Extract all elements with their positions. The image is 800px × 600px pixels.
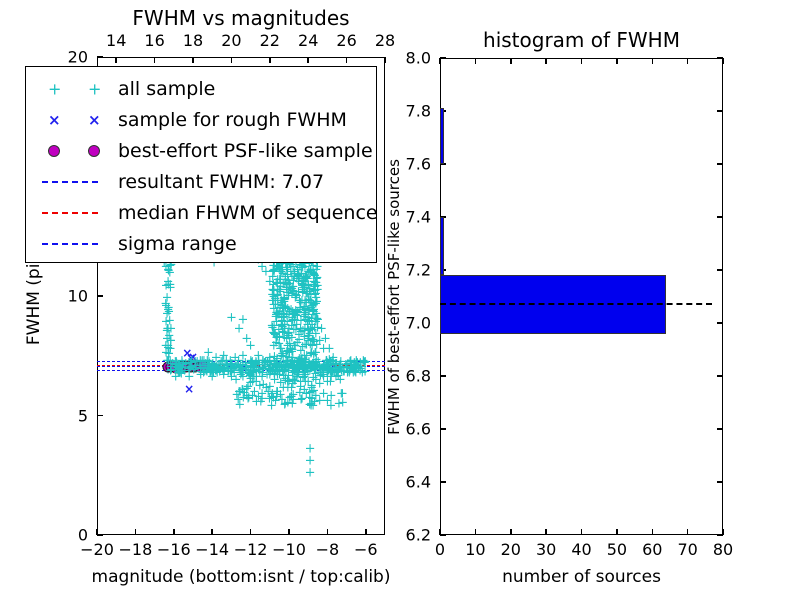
right-x-tick bbox=[652, 529, 654, 535]
right-y-tick-label: 7.0 bbox=[406, 314, 431, 333]
scatter-point-all-sample: + bbox=[306, 288, 317, 301]
left-xbot-tick bbox=[327, 529, 329, 535]
histogram-bar bbox=[440, 217, 444, 275]
left-xbot-tick-label: −18 bbox=[119, 540, 153, 559]
right-x-tick bbox=[581, 529, 583, 535]
right-y-tick-right bbox=[717, 216, 723, 218]
left-xtop-tick bbox=[346, 57, 348, 63]
scatter-point-all-sample: + bbox=[305, 466, 316, 479]
right-y-tick bbox=[440, 428, 446, 430]
right-y-tick-label: 6.2 bbox=[406, 526, 431, 545]
right-x-tick bbox=[545, 529, 547, 535]
legend-item[interactable]: resultant FWHM: 7.07 bbox=[26, 166, 376, 197]
scatter-point-all-sample: + bbox=[163, 354, 174, 367]
scatter-point-all-sample: + bbox=[215, 362, 226, 375]
left-y-tick bbox=[97, 534, 103, 536]
right-x-tick-label: 60 bbox=[642, 540, 662, 559]
right-y-tick-label: 8.0 bbox=[406, 49, 431, 68]
left-y-tick-label: 10 bbox=[68, 287, 88, 306]
right-y-tick-label: 6.6 bbox=[406, 420, 431, 439]
scatter-point-all-sample: + bbox=[293, 276, 304, 289]
left-xtop-tick-label: 28 bbox=[375, 31, 395, 50]
legend-dot-icon bbox=[48, 145, 60, 157]
figure-canvas: FWHM vs magnitudes1416182022242628−20−18… bbox=[0, 0, 800, 600]
right-y-tick-right bbox=[717, 57, 723, 59]
scatter-point-all-sample: + bbox=[237, 384, 248, 397]
scatter-point-all-sample: + bbox=[300, 339, 311, 352]
right-x-tick-top bbox=[722, 58, 724, 64]
left-xbot-tick bbox=[288, 529, 290, 535]
legend-dashdot-line-icon bbox=[42, 243, 98, 245]
left-xbot-tick bbox=[211, 529, 213, 535]
left-xtop-tick bbox=[231, 57, 233, 63]
right-y-tick-right bbox=[717, 481, 723, 483]
left-xbot-tick-label: −16 bbox=[157, 540, 191, 559]
left-xtop-tick bbox=[192, 57, 194, 63]
left-xtop-tick-label: 24 bbox=[298, 31, 318, 50]
legend-item[interactable]: median FHWM of sequence bbox=[26, 197, 376, 228]
legend-item-label: median FHWM of sequence bbox=[118, 202, 378, 224]
legend-cross-icon: × bbox=[88, 111, 101, 129]
scatter-point-all-sample: + bbox=[294, 386, 305, 399]
legend-dashed-line-icon bbox=[42, 212, 98, 214]
right-x-tick-top bbox=[581, 58, 583, 64]
right-x-tick-top bbox=[652, 58, 654, 64]
right-x-tick bbox=[616, 529, 618, 535]
right-y-tick-label: 7.6 bbox=[406, 155, 431, 174]
right-x-tick-label: 30 bbox=[536, 540, 556, 559]
legend-cross-icon: × bbox=[48, 111, 61, 129]
left-xbot-tick bbox=[365, 529, 367, 535]
legend-item-label: resultant FWHM: 7.07 bbox=[118, 171, 324, 193]
scatter-point-all-sample: + bbox=[163, 301, 174, 314]
scatter-point-all-sample: + bbox=[190, 355, 201, 368]
left-xtop-tick bbox=[384, 57, 386, 63]
right-x-tick bbox=[687, 529, 689, 535]
left-xbot-tick bbox=[135, 529, 137, 535]
right-xlabel: number of sources bbox=[502, 567, 661, 587]
right-y-tick-label: 7.8 bbox=[406, 102, 431, 121]
scatter-point-all-sample: + bbox=[300, 368, 311, 381]
scatter-point-all-sample: + bbox=[272, 289, 283, 302]
left-y-tick bbox=[97, 295, 103, 297]
right-y-tick-label: 6.4 bbox=[406, 473, 431, 492]
scatter-point-all-sample: + bbox=[265, 366, 276, 379]
right-y-tick-right bbox=[717, 110, 723, 112]
legend-box: ++all sample××sample for rough FWHMbest-… bbox=[25, 66, 377, 263]
scatter-point-all-sample: + bbox=[161, 279, 172, 292]
legend-item-label: sample for rough FWHM bbox=[118, 109, 347, 131]
left-xtop-tick-label: 26 bbox=[336, 31, 356, 50]
left-xtop-tick-label: 20 bbox=[221, 31, 241, 50]
scatter-point-all-sample: + bbox=[164, 314, 175, 327]
right-y-tick-right bbox=[717, 322, 723, 324]
left-xbot-tick-label: −8 bbox=[316, 540, 340, 559]
right-x-tick-label: 80 bbox=[713, 540, 733, 559]
right-x-tick-top bbox=[545, 58, 547, 64]
left-xbot-tick-label: −10 bbox=[272, 540, 306, 559]
right-plot-title: histogram of FWHM bbox=[483, 28, 680, 52]
scatter-point-all-sample: + bbox=[290, 308, 301, 321]
histogram-bar bbox=[440, 108, 444, 164]
left-xtop-tick bbox=[269, 57, 271, 63]
scatter-point-all-sample: + bbox=[237, 313, 248, 326]
right-x-tick-top bbox=[687, 58, 689, 64]
left-xtop-tick-label: 14 bbox=[106, 31, 126, 50]
legend-item[interactable]: sigma range bbox=[26, 228, 376, 259]
scatter-point-all-sample: + bbox=[353, 360, 364, 373]
right-x-tick-top bbox=[510, 58, 512, 64]
scatter-point-all-sample: + bbox=[306, 382, 317, 395]
right-y-tick-right bbox=[717, 269, 723, 271]
left-xtop-tick bbox=[115, 57, 117, 63]
right-x-tick-label: 20 bbox=[501, 540, 521, 559]
left-y-tick-label: 20 bbox=[68, 48, 88, 67]
right-y-tick bbox=[440, 534, 446, 536]
legend-plus-icon: + bbox=[88, 79, 101, 98]
left-xtop-tick-label: 22 bbox=[260, 31, 280, 50]
scatter-point-all-sample: + bbox=[277, 321, 288, 334]
histogram-resultant-fwhm-line bbox=[440, 303, 712, 305]
left-xbot-tick-label: −12 bbox=[234, 540, 268, 559]
right-x-tick-label: 40 bbox=[571, 540, 591, 559]
right-x-tick-top bbox=[616, 58, 618, 64]
left-xbot-tick bbox=[250, 529, 252, 535]
left-xbot-tick bbox=[173, 529, 175, 535]
right-y-tick-label: 7.2 bbox=[406, 261, 431, 280]
scatter-point-all-sample: + bbox=[336, 388, 347, 401]
right-y-tick bbox=[440, 481, 446, 483]
right-x-tick-label: 50 bbox=[607, 540, 627, 559]
right-y-tick-right bbox=[717, 163, 723, 165]
legend-item-label: sigma range bbox=[118, 233, 237, 255]
left-xtop-tick-label: 16 bbox=[144, 31, 164, 50]
right-ylabel: FWHM of best-effort PSF-like sources bbox=[385, 159, 403, 435]
right-y-tick-label: 6.8 bbox=[406, 367, 431, 386]
right-y-tick bbox=[440, 57, 446, 59]
right-x-tick-top bbox=[439, 58, 441, 64]
scatter-point-all-sample: + bbox=[164, 330, 175, 343]
left-plot-title: FWHM vs magnitudes bbox=[132, 6, 349, 30]
right-x-tick-label: 70 bbox=[677, 540, 697, 559]
right-y-tick-right bbox=[717, 428, 723, 430]
legend-dashed-line-icon bbox=[42, 181, 98, 183]
scatter-point-all-sample: + bbox=[283, 370, 294, 383]
right-y-tick-right bbox=[717, 534, 723, 536]
scatter-point-all-sample: + bbox=[275, 388, 286, 401]
legend-item[interactable]: ++all sample bbox=[26, 73, 376, 104]
left-xbot-tick-label: −14 bbox=[195, 540, 229, 559]
left-xlabel: magnitude (bottom:isnt / top:calib) bbox=[92, 567, 391, 587]
right-x-tick-label: 0 bbox=[435, 540, 445, 559]
left-y-tick-label: 5 bbox=[78, 406, 88, 425]
legend-plus-icon: + bbox=[48, 79, 61, 98]
scatter-point-all-sample: + bbox=[274, 274, 285, 287]
legend-dot-icon bbox=[88, 145, 100, 157]
left-xtop-tick-label: 18 bbox=[183, 31, 203, 50]
right-y-tick bbox=[440, 375, 446, 377]
right-y-tick-label: 7.4 bbox=[406, 208, 431, 227]
legend-item[interactable]: best-effort PSF-like sample bbox=[26, 135, 376, 166]
right-y-tick-right bbox=[717, 375, 723, 377]
scatter-point-rough-fwhm: × bbox=[184, 383, 194, 395]
left-xtop-tick bbox=[154, 57, 156, 63]
scatter-point-all-sample: + bbox=[304, 305, 315, 318]
left-y-tick-label: 0 bbox=[78, 526, 88, 545]
right-x-tick bbox=[475, 529, 477, 535]
right-x-tick bbox=[510, 529, 512, 535]
scatter-point-all-sample: + bbox=[325, 399, 336, 412]
legend-item[interactable]: ××sample for rough FWHM bbox=[26, 104, 376, 135]
left-y-tick bbox=[97, 56, 103, 58]
scatter-point-all-sample: + bbox=[302, 319, 313, 332]
scatter-point-all-sample: + bbox=[311, 338, 322, 351]
left-y-tick bbox=[97, 415, 103, 417]
legend-item-label: best-effort PSF-like sample bbox=[118, 140, 373, 162]
left-xtop-tick bbox=[307, 57, 309, 63]
right-x-tick-label: 10 bbox=[465, 540, 485, 559]
left-xbot-tick-label: −6 bbox=[354, 540, 378, 559]
right-x-tick-top bbox=[475, 58, 477, 64]
legend-item-label: all sample bbox=[118, 78, 215, 100]
scatter-point-all-sample: + bbox=[174, 363, 185, 376]
